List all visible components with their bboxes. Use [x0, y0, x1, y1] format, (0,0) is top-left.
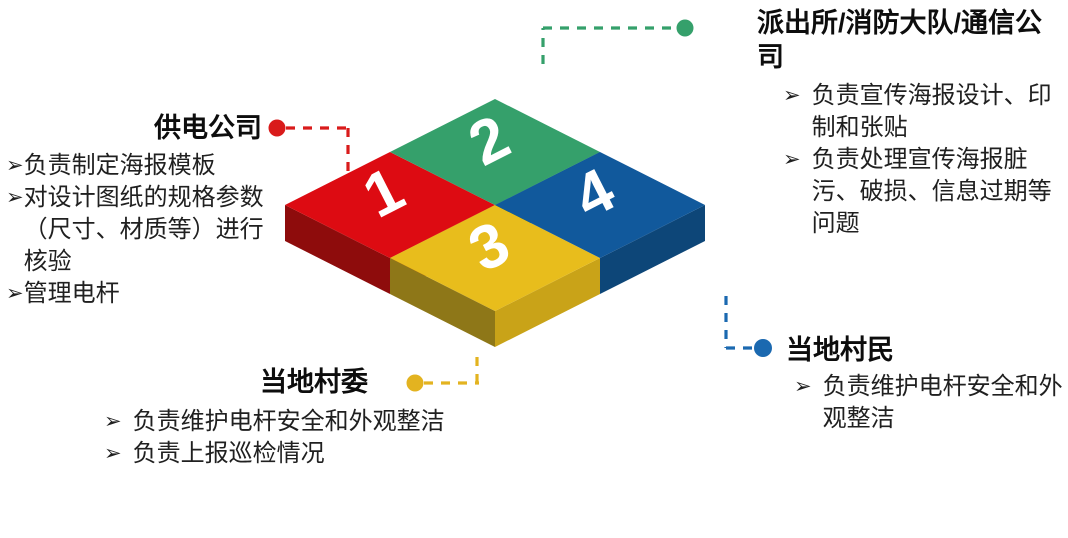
bullets-police: ➢ 负责宣传海报设计、印制和张贴 ➢ 负责处理宣传海报脏污、破损、信息过期等问题 [783, 80, 1063, 240]
label-block-power: 供电公司 ➢ 负责制定海报模板 ➢ 对设计图纸的规格参数（尺寸、材质等）进行核验… [6, 112, 278, 310]
bullets-committee: ➢ 负责维护电杆安全和外观整洁 ➢ 负责上报巡检情况 [104, 406, 504, 470]
connector-4-dot [754, 339, 772, 357]
heading-power: 供电公司 [6, 112, 278, 145]
arrow-bullet-icon: ➢ [6, 150, 24, 182]
bullet-item: ➢ 负责处理宣传海报脏污、破损、信息过期等问题 [783, 144, 1063, 240]
label-block-committee: 当地村委 ➢ 负责维护电杆安全和外观整洁 ➢ 负责上报巡检情况 [104, 366, 504, 470]
bullet-text: 负责处理宣传海报脏污、破损、信息过期等问题 [812, 144, 1063, 240]
bullet-text: 负责维护电杆安全和外观整洁 [133, 406, 504, 438]
bullet-item: ➢ 负责维护电杆安全和外观整洁 [104, 406, 504, 438]
label-block-villagers: 当地村民 ➢ 负责维护电杆安全和外观整洁 [786, 334, 1064, 435]
bullet-item: ➢ 负责宣传海报设计、印制和张贴 [783, 80, 1063, 144]
connector-4 [726, 296, 772, 357]
label-block-police: 派出所/消防大队/通信公司 ➢ 负责宣传海报设计、印制和张贴 ➢ 负责处理宣传海… [757, 6, 1063, 240]
arrow-bullet-icon: ➢ [6, 182, 24, 214]
bullet-item: ➢ 负责维护电杆安全和外观整洁 [794, 371, 1064, 435]
heading-police: 派出所/消防大队/通信公司 [757, 6, 1063, 74]
bullets-power: ➢ 负责制定海报模板 ➢ 对设计图纸的规格参数（尺寸、材质等）进行核验 ➢ 管理… [6, 150, 278, 310]
arrow-bullet-icon: ➢ [104, 438, 122, 470]
arrow-bullet-icon: ➢ [104, 406, 122, 438]
bullet-text: 负责制定海报模板 [24, 150, 278, 182]
diagram-canvas: 1 2 3 4 供电公司 ➢ 负责制定海报模板 [0, 0, 1068, 538]
arrow-bullet-icon: ➢ [783, 144, 801, 176]
heading-villagers: 当地村民 [786, 334, 1064, 367]
bullet-item: ➢ 管理电杆 [6, 278, 278, 310]
bullet-item: ➢ 对设计图纸的规格参数（尺寸、材质等）进行核验 [6, 182, 278, 278]
heading-committee: 当地村委 [260, 366, 504, 399]
bullet-text: 负责宣传海报设计、印制和张贴 [812, 80, 1063, 144]
connector-2-dot [677, 20, 694, 37]
arrow-bullet-icon: ➢ [783, 80, 801, 112]
bullet-item: ➢ 负责上报巡检情况 [104, 438, 504, 470]
connector-2 [543, 20, 694, 65]
bullet-text: 对设计图纸的规格参数（尺寸、材质等）进行核验 [24, 182, 278, 278]
bullet-item: ➢ 负责制定海报模板 [6, 150, 278, 182]
arrow-bullet-icon: ➢ [6, 278, 24, 310]
arrow-bullet-icon: ➢ [794, 371, 812, 403]
bullet-text: 负责上报巡检情况 [133, 438, 504, 470]
bullets-villagers: ➢ 负责维护电杆安全和外观整洁 [794, 371, 1064, 435]
bullet-text: 管理电杆 [24, 278, 278, 310]
bullet-text: 负责维护电杆安全和外观整洁 [823, 371, 1064, 435]
